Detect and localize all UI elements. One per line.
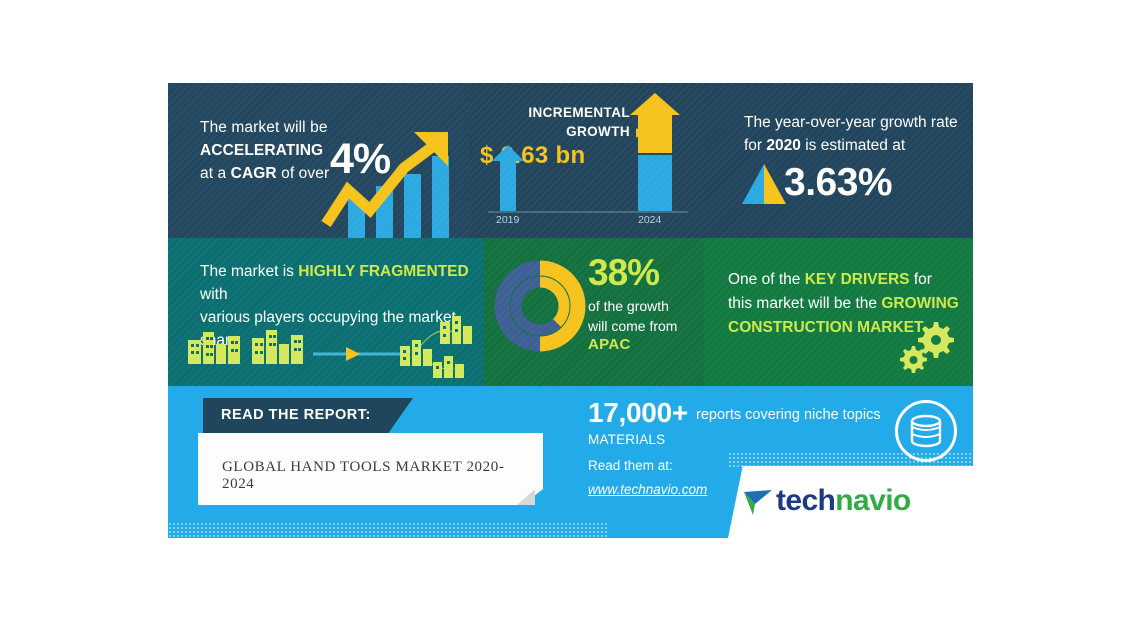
apac-value: 38% [588, 252, 659, 294]
paper-plane-icon [742, 488, 776, 518]
apac-subtext: of the growth will come from [588, 296, 704, 336]
apac-region: APAC [588, 336, 631, 353]
logo-text-part1: tech [776, 484, 835, 517]
infographic-canvas: The market will be ACCELERATING at a CAG… [168, 83, 973, 538]
report-title: GLOBAL HAND TOOLS MARKET 2020-2024 [222, 459, 527, 493]
incremental-growth-bars [488, 93, 688, 213]
report-count: 17,000+ [588, 397, 688, 429]
read-them-at-label: Read them at: [588, 458, 673, 473]
fragmented-line1-b: HIGHLY FRAGMENTED [298, 263, 469, 280]
rising-bar-chart-with-arrow-icon [286, 128, 470, 238]
drivers-line1-c: for [910, 271, 932, 288]
drivers-line1-a: One of the [728, 271, 805, 288]
drivers-line2-b: GROWING [881, 295, 959, 312]
technavio-logo-plate: technavio [728, 466, 973, 538]
incremental-year-start: 2019 [496, 214, 519, 226]
gears-icon [894, 316, 966, 380]
fragmented-line1-c: with [200, 286, 228, 303]
footer-dot-strip-left [168, 522, 608, 538]
panel-fragmented: The market is HIGHLY FRAGMENTED with var… [168, 238, 484, 386]
drivers-line1-b: KEY DRIVERS [805, 271, 910, 288]
drivers-line2-a: this market will be the [728, 295, 881, 312]
apac-sub-line2: will come from [588, 316, 704, 336]
yoy-line2-b: 2020 [766, 137, 800, 154]
panel-apac-share: 38% of the growth will come from APAC [484, 238, 704, 386]
report-title-card[interactable]: GLOBAL HAND TOOLS MARKET 2020-2024 [198, 433, 543, 505]
panel-yoy-growth: The year-over-year growth rate for 2020 … [704, 83, 973, 238]
report-count-suffix: reports covering niche topics [696, 407, 881, 423]
yoy-value: 3.63% [784, 161, 892, 205]
donut-chart-icon [492, 256, 588, 356]
incremental-year-end: 2024 [638, 214, 661, 226]
footer-dot-strip-right [728, 452, 973, 468]
panel-incremental-growth: INCREMENTAL GROWTH ▶ $ 2.63 bn 2019 2024 [470, 83, 704, 238]
yoy-line1: The year-over-year growth rate [744, 111, 959, 134]
technavio-wordmark: technavio [776, 484, 911, 518]
cagr-line2-a: at a [200, 165, 231, 182]
panel-footer: READ THE REPORT: GLOBAL HAND TOOLS MARKE… [168, 386, 973, 538]
cagr-line2-b: CAGR [231, 165, 277, 182]
website-link[interactable]: www.technavio.com [588, 482, 707, 497]
materials-label: MATERIALS [588, 432, 665, 447]
logo-text-part2: navio [835, 484, 910, 517]
yoy-line2-a: for [744, 137, 766, 154]
read-the-report-ribbon: READ THE REPORT: [203, 398, 413, 434]
ribbon-label: READ THE REPORT: [221, 407, 371, 423]
fragmented-line1-a: The market is [200, 263, 298, 280]
apac-sub-line1: of the growth [588, 296, 704, 316]
yoy-line2-c: is estimated at [801, 137, 905, 154]
panel-key-drivers: One of the KEY DRIVERS for this market w… [704, 238, 973, 386]
city-buildings-fragmentation-icon [178, 306, 478, 378]
yoy-text: The year-over-year growth rate for 2020 … [744, 111, 959, 157]
panel-cagr: The market will be ACCELERATING at a CAG… [168, 83, 470, 238]
